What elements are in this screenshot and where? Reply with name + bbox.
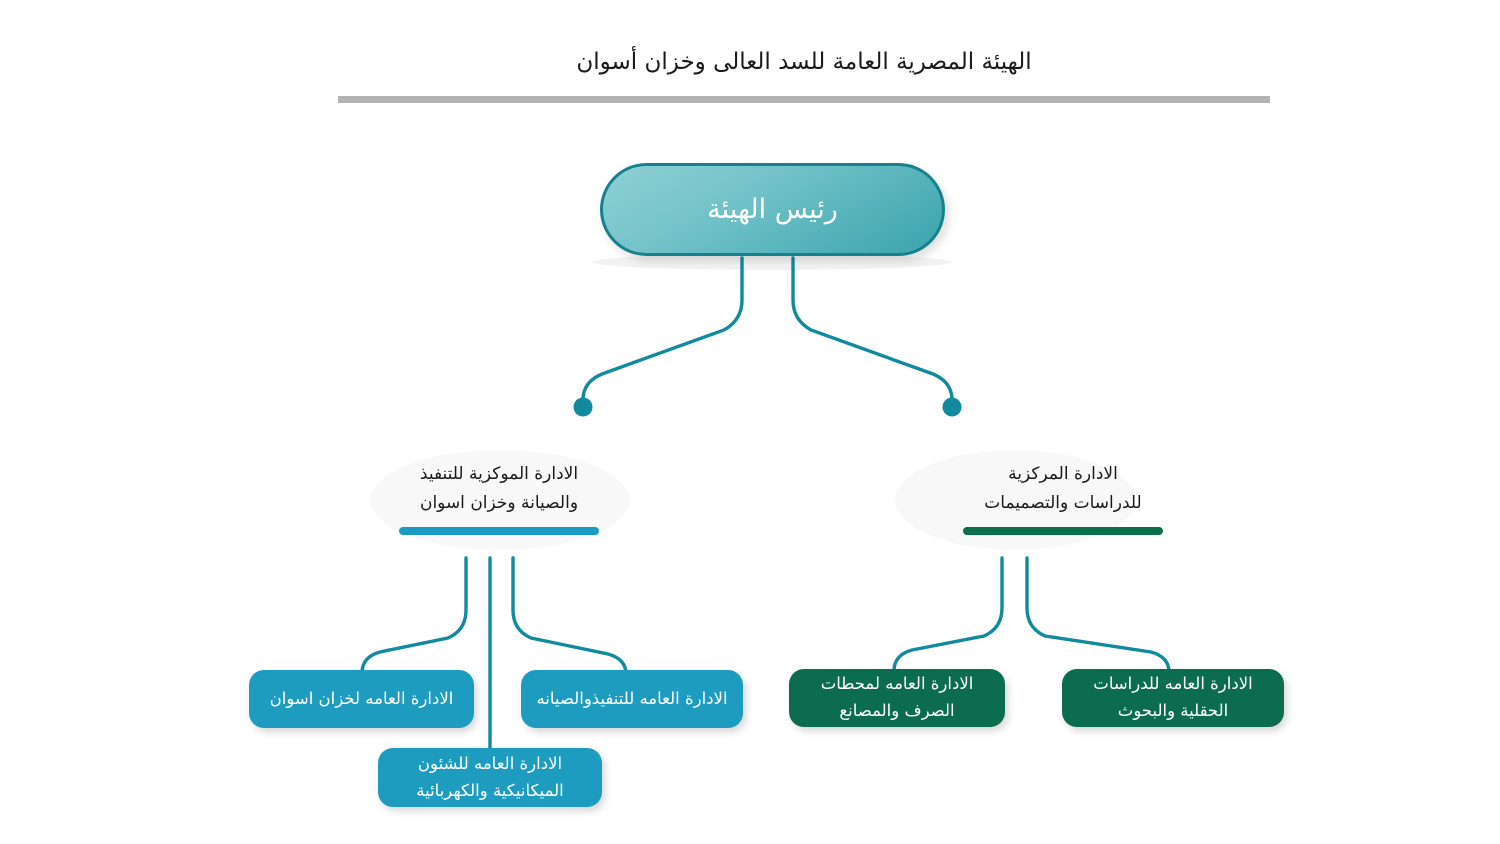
node-drainage-plants[interactable]: الادارة العامه لمحطات الصرف والمصانع xyxy=(789,669,1005,727)
node-central-studies-designs-bar xyxy=(963,527,1163,535)
edge-exec-to-aswan-reservoir xyxy=(362,558,466,676)
node-mech-electric-label: الادارة العامه للشئون الميكانيكية والكهر… xyxy=(404,751,575,804)
node-field-studies-label: الادارة العامه للدراسات الحقلية والبحوث xyxy=(1081,671,1264,724)
node-exec-maintenance[interactable]: الادارة العامه للتنفيذوالصيانه xyxy=(521,670,743,728)
node-aswan-reservoir-label: الادارة العامه لخزان اسوان xyxy=(258,686,466,713)
node-central-exec-maintenance-bar xyxy=(399,527,599,535)
node-mech-electric[interactable]: الادارة العامه للشئون الميكانيكية والكهر… xyxy=(378,748,602,807)
node-central-studies-designs[interactable]: الادارة المركزية للدراسات والتصميمات xyxy=(913,460,1213,535)
node-chairman[interactable]: رئيس الهيئة xyxy=(600,163,945,256)
edge-studies-to-drainage-plants xyxy=(894,558,1002,675)
header-divider xyxy=(338,96,1270,103)
node-central-exec-maintenance[interactable]: الادارة الموكزية للتنفيذ والصيانة وخزان … xyxy=(349,460,649,535)
node-drainage-plants-label: الادارة العامه لمحطات الصرف والمصانع xyxy=(809,671,986,724)
edge-root-to-central-studies xyxy=(793,258,952,404)
node-central-studies-designs-label: الادارة المركزية للدراسات والتصميمات xyxy=(913,460,1213,518)
node-dot-right xyxy=(943,398,962,417)
edge-root-to-central-exec xyxy=(583,258,742,404)
node-field-studies[interactable]: الادارة العامه للدراسات الحقلية والبحوث xyxy=(1062,669,1284,727)
node-central-exec-maintenance-label: الادارة الموكزية للتنفيذ والصيانة وخزان … xyxy=(349,460,649,518)
page-title: الهيئة المصرية العامة للسد العالى وخزان … xyxy=(338,48,1270,78)
node-chairman-label: رئيس الهيئة xyxy=(707,194,838,225)
org-chart-page: الهيئة المصرية العامة للسد العالى وخزان … xyxy=(0,0,1500,844)
node-dot-left xyxy=(574,398,593,417)
node-aswan-reservoir[interactable]: الادارة العامه لخزان اسوان xyxy=(249,670,474,728)
edge-exec-to-exec-maintenance xyxy=(513,558,626,677)
shadow-root xyxy=(592,254,952,270)
edge-studies-to-field-studies xyxy=(1027,558,1169,675)
node-exec-maintenance-label: الادارة العامه للتنفيذوالصيانه xyxy=(524,686,739,713)
